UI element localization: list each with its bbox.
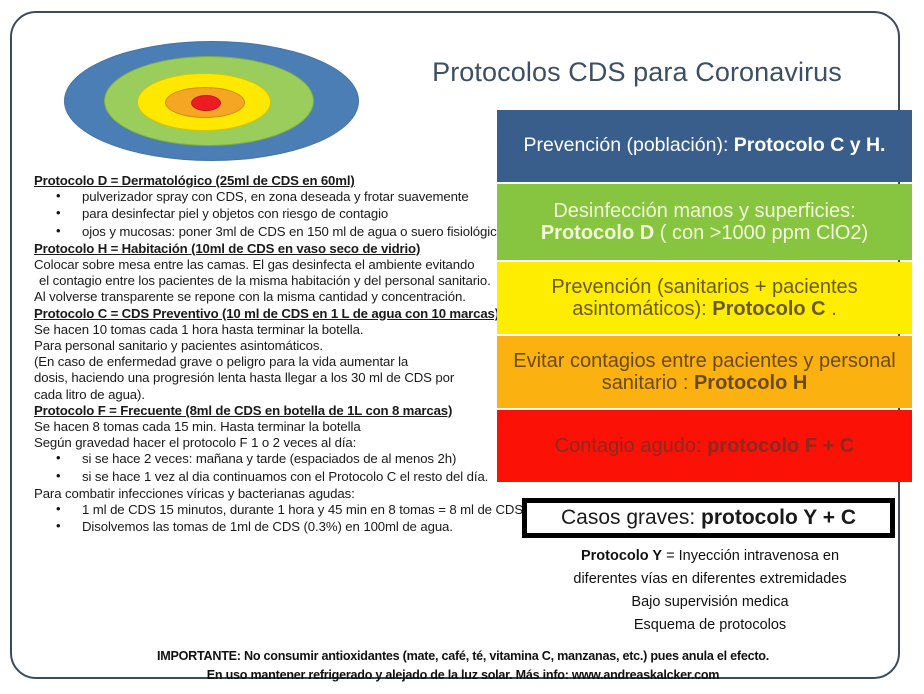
protocolo-y-line-1: Protocolo Y = Inyección intravenosa en xyxy=(510,545,910,568)
protocol-h-line: Al volverse transparente se repone con l… xyxy=(34,290,496,303)
protocol-f-line: Según gravedad hacer el protocolo F 1 o … xyxy=(34,436,496,449)
protocol-f-line: Para combatir infecciones víricas y bact… xyxy=(34,487,496,500)
band-text-bold: Protocolo H xyxy=(694,372,807,394)
casos-graves-box: Casos graves: protocolo Y + C xyxy=(522,498,895,538)
list-item: 1 ml de CDS 15 minutos, durante 1 hora y… xyxy=(34,503,496,516)
protocol-d-heading: Protocolo D = Dermatológico (25ml de CDS… xyxy=(34,174,496,187)
protocolo-y-label: Protocolo Y xyxy=(581,548,662,564)
casos-graves-text-bold: protocolo Y + C xyxy=(701,506,856,529)
protocol-band-stack: Prevención (población): Protocolo C y H.… xyxy=(497,110,912,482)
protocol-c-line: (En caso de enfermedad grave o peligro p… xyxy=(34,355,496,368)
footer-line-2: En uso mantener refrigerado y alejado de… xyxy=(34,666,892,685)
band-text-tail: . xyxy=(826,298,837,320)
protocol-h-heading: Protocolo H = Habitación (10ml de CDS en… xyxy=(34,242,496,255)
protocol-f-bullets: si se hace 2 veces: mañana y tarde (espa… xyxy=(34,452,496,482)
protocol-h-line: el contagio entre los pacientes de la mi… xyxy=(34,274,496,287)
list-item: pulverizador spray con CDS, en zona dese… xyxy=(34,190,496,203)
page-title: Protocolos CDS para Coronavirus xyxy=(372,57,902,88)
band-desinfeccion: Desinfección manos y superficies: Protoc… xyxy=(497,184,912,260)
list-item: para desinfectar piel y objetos con ries… xyxy=(34,207,496,220)
protocol-c-line: Para personal sanitario y pacientes asin… xyxy=(34,339,496,352)
protocol-c-heading: Protocolo C = CDS Preventivo (10 ml de C… xyxy=(34,307,496,320)
protocol-h-line: Colocar sobre mesa entre las camas. El g… xyxy=(34,258,496,271)
band-text: Contagio agudo: xyxy=(555,435,707,457)
band-contagio-agudo: Contagio agudo: protocolo F + C xyxy=(497,410,912,482)
footer-note: IMPORTANTE: No consumir antioxidantes (m… xyxy=(34,647,892,684)
protocolo-y-line-4: Esquema de protocolos xyxy=(510,614,910,637)
protocol-c-line: dosis, haciendo una progresión lenta has… xyxy=(34,371,496,384)
concentric-ellipses-logo xyxy=(64,37,359,165)
band-text: Prevención (población): xyxy=(524,134,734,156)
band-text-bold: Protocolo D xyxy=(541,222,654,244)
protocolo-y-note: Protocolo Y = Inyección intravenosa en d… xyxy=(510,545,910,637)
band-text-bold: Protocolo C xyxy=(712,298,825,320)
band-text: Desinfección manos y superficies: xyxy=(553,200,855,222)
band-prevencion-sanitarios: Prevención (sanitarios + pacientes asint… xyxy=(497,262,912,334)
protocol-c-line: Se hacen 10 tomas cada 1 hora hasta term… xyxy=(34,323,496,336)
protocolo-y-line-1-rest: = Inyección intravenosa en xyxy=(662,548,839,564)
protocolo-y-line-3: Bajo supervisión medica xyxy=(510,591,910,614)
band-text-bold: Protocolo C y H. xyxy=(734,134,886,156)
band-prevencion-poblacion: Prevención (población): Protocolo C y H. xyxy=(497,110,912,182)
poster-card: Protocolos CDS para Coronavirus Protocol… xyxy=(10,11,900,679)
band-evitar-contagios: Evitar contagios entre pacientes y perso… xyxy=(497,336,912,408)
protocol-d-bullets: pulverizador spray con CDS, en zona dese… xyxy=(34,190,496,238)
band-text-tail: ( con >1000 ppm ClO2) xyxy=(654,222,868,244)
casos-graves-text: Casos graves: xyxy=(561,506,701,529)
protocolo-y-line-2: diferentes vías en diferentes extremidad… xyxy=(510,568,910,591)
footer-line-1: IMPORTANTE: No consumir antioxidantes (m… xyxy=(34,647,892,666)
left-text-column: Protocolo D = Dermatológico (25ml de CDS… xyxy=(34,171,496,537)
list-item: ojos y mucosas: poner 3ml de CDS en 150 … xyxy=(34,225,496,238)
list-item: Disolvemos las tomas de 1ml de CDS (0.3%… xyxy=(34,520,496,533)
list-item: si se hace 2 veces: mañana y tarde (espa… xyxy=(34,452,496,465)
protocol-f-heading: Protocolo F = Frecuente (8ml de CDS en b… xyxy=(34,404,496,417)
protocol-c-line: cada litro de agua). xyxy=(34,388,496,401)
protocol-f-line: Se hacen 8 tomas cada 15 min. Hasta term… xyxy=(34,420,496,433)
list-item: si se hace 1 vez al dia continuamos con … xyxy=(34,470,496,483)
protocol-f-bullets-2: 1 ml de CDS 15 minutos, durante 1 hora y… xyxy=(34,503,496,533)
band-text-bold: protocolo F + C xyxy=(707,435,854,457)
logo-ring-red xyxy=(191,95,221,111)
